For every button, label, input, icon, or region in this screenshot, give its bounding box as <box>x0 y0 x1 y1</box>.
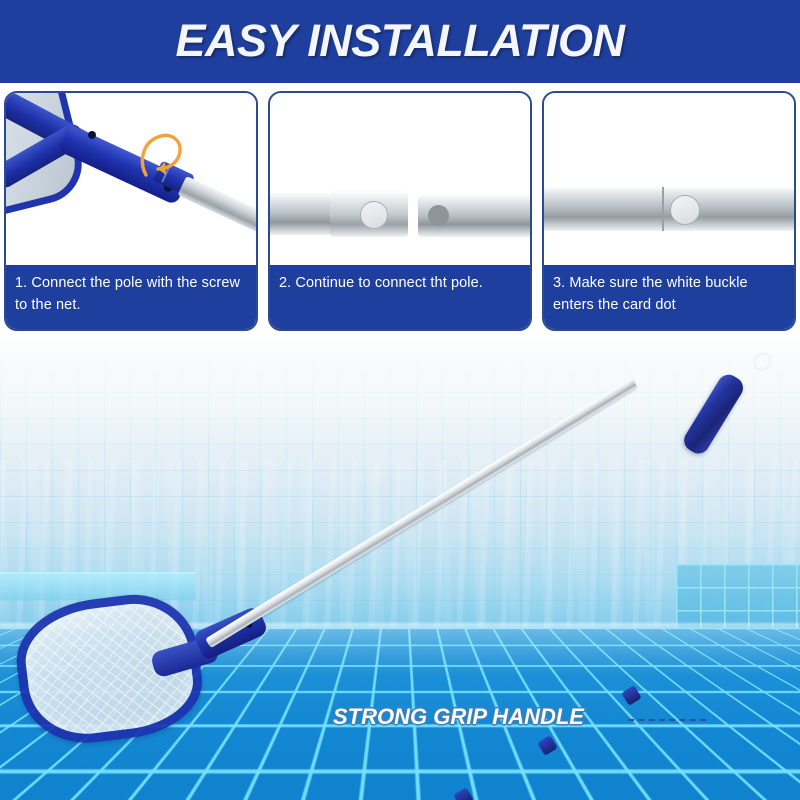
rotate-arrow-icon <box>138 129 184 181</box>
hanging-loop-icon <box>750 349 774 374</box>
infographic-page: EASY INSTALLATION 1. Connect the pole wi… <box>0 0 800 800</box>
step-panel-2: 2. Continue to connect tht pole. <box>268 91 532 331</box>
installation-steps-strip: 1. Connect the pole with the screw to th… <box>0 83 800 340</box>
step-panel-1: 1. Connect the pole with the screw to th… <box>4 91 258 331</box>
step-2-caption: 2. Continue to connect tht pole. <box>270 265 530 329</box>
card-dot-icon <box>428 205 449 226</box>
page-title: EASY INSTALLATION <box>175 18 624 63</box>
telescopic-pole <box>205 378 637 649</box>
step-3-illustration <box>544 93 794 265</box>
step-1-illustration <box>6 93 256 265</box>
step-1-caption: 1. Connect the pole with the screw to th… <box>6 265 256 329</box>
step-2-illustration <box>270 93 530 265</box>
header-banner: EASY INSTALLATION <box>0 0 800 83</box>
pole-joint-3 <box>453 787 474 800</box>
leader-line-handle <box>628 719 706 721</box>
pole-joint-4 <box>537 735 558 756</box>
aluminum-pole-icon <box>178 176 256 250</box>
white-buckle-icon <box>360 201 388 229</box>
pole-joint-5 <box>621 685 642 706</box>
pool-scene-photo: STRONG GRIP HANDLE 5 KNOTS POLE FINE MES… <box>0 340 800 800</box>
step-panel-3: 3. Make sure the white buckle enters the… <box>542 91 796 331</box>
callout-strong-grip-handle: STRONG GRIP HANDLE <box>333 706 584 728</box>
joined-pole-icon <box>544 187 794 231</box>
step-3-caption: 3. Make sure the white buckle enters the… <box>544 265 794 329</box>
foam-grip-handle <box>680 371 747 458</box>
white-buckle-icon <box>670 195 700 225</box>
net-neck-hole-icon <box>88 131 96 139</box>
pole-seam-icon <box>662 187 664 231</box>
skimmer-net-product <box>0 340 800 800</box>
